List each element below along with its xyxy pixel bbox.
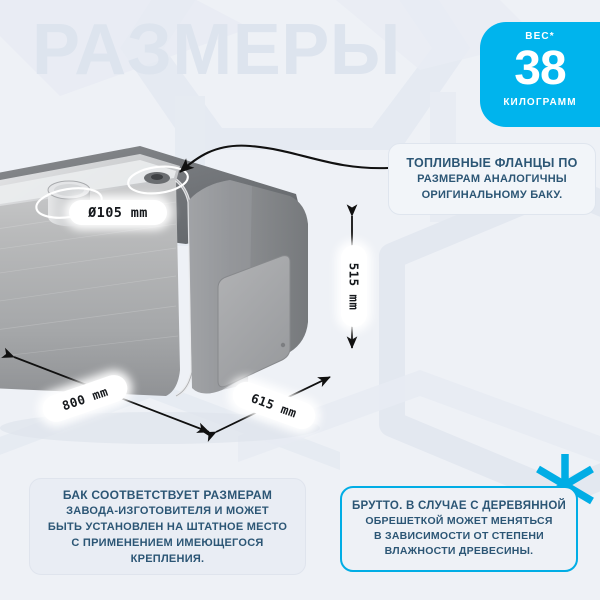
dimension-height-label: 515 mm [347,262,362,310]
dimension-depth: 615 mm [229,378,319,433]
callout-flange-line-2: размерам аналогичны [406,171,577,187]
infographic-canvas: РАЗМЕРЫ ВЕС* 38 КИЛОГРАММ [0,0,600,600]
callout-fit-line-5: крепления. [48,551,287,567]
dimension-diameter-label: Ø105 mm [88,205,148,221]
dimension-width-label: 800 mm [60,384,110,414]
weight-badge: ВЕС* 38 КИЛОГРАММ [480,22,600,127]
callout-fit: Бак соответствует размерам завода-изгото… [29,478,306,575]
weight-badge-value: 38 [480,42,600,96]
callout-gross-line-1: Брутто. В случае с деревянной [352,499,566,514]
curved-arrow-icon [180,146,388,172]
dimension-width: 800 mm [39,371,131,425]
callout-gross-line-3: в зависимости от степени [352,529,566,544]
dimension-diameter: Ø105 mm [69,200,167,225]
callout-gross-line-2: обрешеткой может меняться [352,514,566,529]
weight-badge-unit: КИЛОГРАММ [480,97,600,109]
callout-fit-line-1: Бак соответствует размерам [48,487,287,503]
dimension-depth-label: 615 mm [249,390,299,420]
callout-flange-line-3: оригинальному баку. [406,187,577,203]
callout-gross: Брутто. В случае с деревянной обрешеткой… [340,486,578,572]
callout-fit-line-2: завода-изготовителя и может [48,503,287,519]
callout-flange-line-1: Топливные Фланцы по [406,155,577,171]
callout-fit-line-3: быть установлен на штатное место [48,519,287,535]
page-title: РАЗМЕРЫ [32,10,401,90]
callout-gross-line-4: влажности древесины. [352,544,566,559]
dimension-height: 515 mm [341,245,367,327]
callout-flange: Топливные Фланцы по размерам аналогичны … [388,143,596,215]
callout-fit-line-4: с применением имеющегося [48,535,287,551]
